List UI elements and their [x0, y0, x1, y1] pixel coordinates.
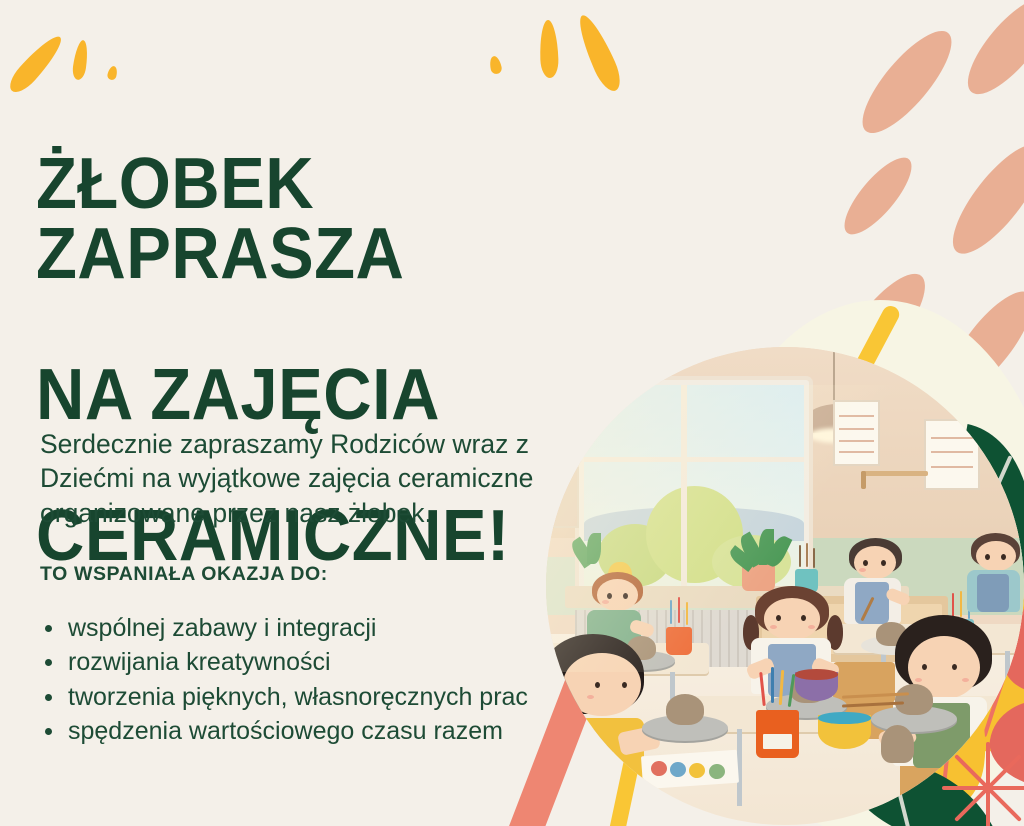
list-item-label: rozwijania kreatywności	[68, 648, 331, 676]
benefits-subheading: TO WSPANIAŁA OKAZJA DO:	[40, 563, 328, 586]
wall-shelf	[861, 471, 928, 476]
bullet-dot-icon	[45, 694, 52, 701]
list-item-label: wspólnej zabawy i integracji	[68, 614, 376, 642]
bullet-dot-icon	[45, 659, 52, 666]
benefits-list: wspólnej zabawy i integracji rozwijania …	[40, 612, 570, 749]
peach-oval-1	[849, 19, 965, 145]
page-title: ŻŁOBEK ZAPRASZA NA ZAJĘCIA CERAMICZNE!	[36, 78, 631, 642]
classroom-scene	[546, 347, 1024, 825]
bullet-dot-icon	[45, 625, 52, 632]
sparkle-medium-right-icon	[539, 20, 559, 79]
headline-line-1: ŻŁOBEK ZAPRASZA	[36, 149, 631, 290]
list-item-label: tworzenia pięknych, własnoręcznych prac	[68, 683, 528, 711]
bullet-dot-icon	[45, 728, 52, 735]
sparkle-medium-left-icon	[71, 39, 89, 80]
headline-line-2: NA ZAJĘCIA	[36, 360, 631, 431]
peach-oval-3	[834, 148, 922, 243]
peach-oval-4	[939, 132, 1024, 266]
sparkle-small-right-icon	[488, 55, 503, 75]
list-item: spędzenia wartościowego czasu razem	[40, 715, 570, 748]
ceramics-class-photo	[546, 347, 1024, 825]
wall-poster-3	[546, 467, 579, 528]
intro-paragraph: Serdecznie zapraszamy Rodziców wraz z Dz…	[40, 427, 540, 532]
wall-poster-2	[924, 419, 981, 490]
list-item: wspólnej zabawy i integracji	[40, 612, 570, 645]
list-item: tworzenia pięknych, własnoręcznych prac	[40, 681, 570, 714]
poster-canvas: ŻŁOBEK ZAPRASZA NA ZAJĘCIA CERAMICZNE! S…	[0, 0, 1024, 826]
list-item-label: spędzenia wartościowego czasu razem	[68, 717, 503, 745]
clay-figure-table	[881, 725, 914, 763]
wall-poster-1	[833, 400, 880, 466]
peach-oval-2	[955, 0, 1024, 106]
list-item: rozwijania kreatywności	[40, 646, 570, 679]
